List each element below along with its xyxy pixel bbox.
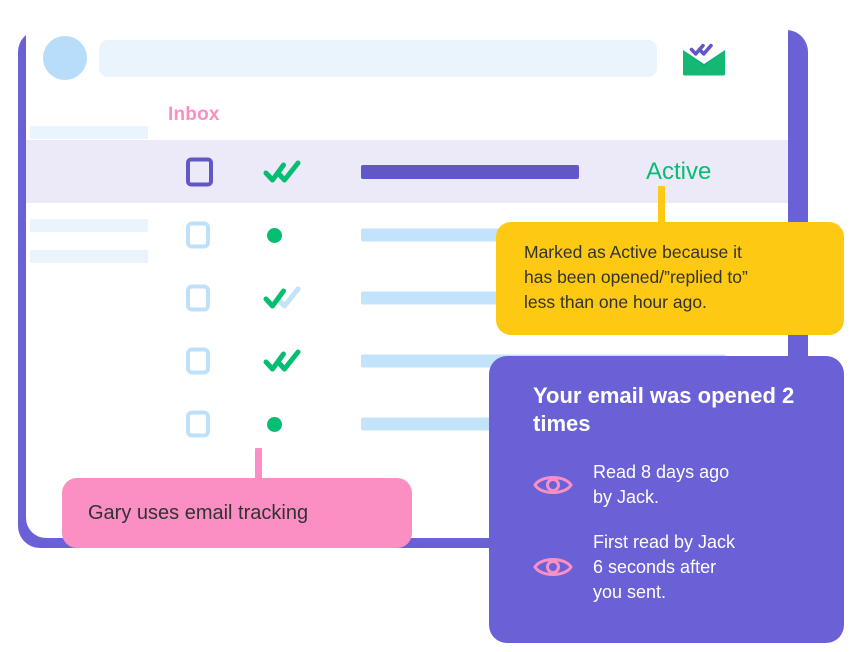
checkbox-unchecked-icon[interactable] xyxy=(186,410,210,437)
inbox-folder-label[interactable]: Inbox xyxy=(168,104,220,126)
sidebar-item-1[interactable] xyxy=(30,126,148,139)
tracking-event-2: First read by Jack 6 seconds after you s… xyxy=(533,530,820,604)
envelope-open-double-check-icon xyxy=(679,33,729,77)
event-line-2: by Jack. xyxy=(593,487,659,507)
checkbox-unchecked-icon[interactable] xyxy=(186,157,213,186)
tracking-event-2-text: First read by Jack 6 seconds after you s… xyxy=(577,530,735,604)
callout-active-reason: Marked as Active because it has been ope… xyxy=(496,222,844,335)
callout-active-reason-text: Marked as Active because it has been ope… xyxy=(524,240,822,316)
callout-line-3: less than one hour ago. xyxy=(524,292,707,312)
dot-unread-icon xyxy=(263,220,303,250)
tracking-panel-title: Your email was opened 2 times xyxy=(533,382,820,438)
callout-tracking-user-text: Gary uses email tracking xyxy=(88,502,308,525)
event-line-1: First read by Jack xyxy=(593,532,735,552)
callout-connector-yellow xyxy=(658,186,665,226)
double-check-partial-icon xyxy=(263,283,303,313)
illustration-scene: Inbox Active xyxy=(0,0,850,652)
tracking-event-1-text: Read 8 days ago by Jack. xyxy=(577,460,729,510)
double-check-read-icon xyxy=(263,157,303,187)
event-line-2: 6 seconds after xyxy=(593,557,716,577)
checkbox-unchecked-icon[interactable] xyxy=(186,221,210,248)
table-row[interactable]: Active xyxy=(26,140,788,203)
row-subject-bar xyxy=(361,165,579,179)
user-avatar-icon[interactable] xyxy=(43,36,87,80)
eye-icon xyxy=(533,554,577,580)
callout-tracking-user: Gary uses email tracking xyxy=(62,478,412,548)
event-line-1: Read 8 days ago xyxy=(593,462,729,482)
double-check-read-icon xyxy=(263,346,303,376)
checkbox-unchecked-icon[interactable] xyxy=(186,284,210,311)
tracking-panel: Your email was opened 2 times Read 8 day… xyxy=(489,356,844,643)
window-header xyxy=(26,8,788,100)
search-input[interactable] xyxy=(99,40,657,77)
dot-unread-icon xyxy=(263,409,303,439)
callout-line-2: has been opened/”replied to” xyxy=(524,267,748,287)
checkbox-unchecked-icon[interactable] xyxy=(186,347,210,374)
eye-icon xyxy=(533,472,577,498)
tracking-event-1: Read 8 days ago by Jack. xyxy=(533,460,820,510)
callout-line-1: Marked as Active because it xyxy=(524,242,742,262)
status-badge: Active xyxy=(646,158,711,186)
event-line-3: you sent. xyxy=(593,582,666,602)
